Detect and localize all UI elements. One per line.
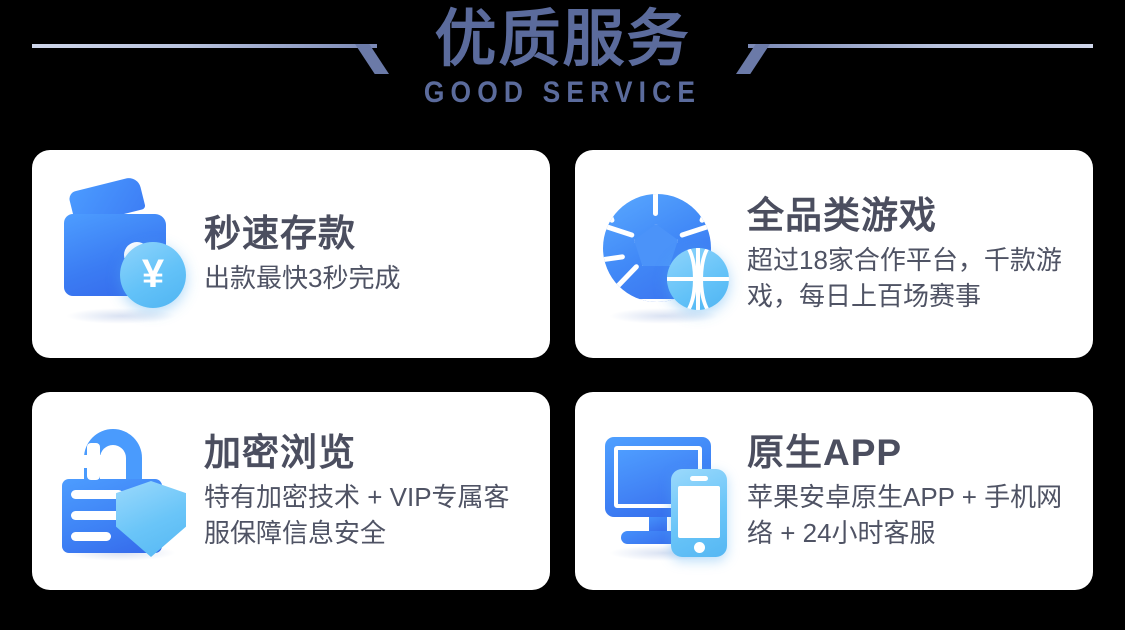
page-title: 优质服务	[0, 6, 1125, 74]
page-subtitle: GOOD SERVICE	[68, 76, 1058, 110]
card-text: 秒速存款 出款最快3秒完成	[204, 211, 534, 297]
card-title: 原生APP	[747, 432, 1077, 475]
soccer-seam	[699, 198, 711, 224]
shield-cross	[75, 455, 112, 468]
title-block: 优质服务 GOOD SERVICE	[0, 6, 1125, 110]
card-description: 特有加密技术 + VIP专属客服保障信息安全	[204, 480, 534, 552]
soccer-seam	[603, 198, 615, 224]
card-title: 全品类游戏	[747, 195, 1077, 238]
wallet-yen-coin-icon: ¥	[58, 188, 190, 320]
monitor-phone-icon	[601, 425, 733, 557]
icon-shadow	[66, 308, 176, 324]
soccer-basketball-icon	[601, 188, 733, 320]
phone-home-button	[694, 542, 705, 553]
phone-screen	[678, 486, 720, 538]
phone-speaker	[690, 476, 708, 481]
soccer-seam	[603, 223, 635, 238]
card-title: 加密浏览	[204, 432, 534, 475]
card-text: 原生APP 苹果安卓原生APP + 手机网络 + 24小时客服	[747, 430, 1077, 552]
feature-card-games[interactable]: 全品类游戏 超过18家合作平台，千款游戏，每日上百场赛事	[575, 150, 1093, 358]
card-description: 超过18家合作平台，千款游戏，每日上百场赛事	[747, 243, 1077, 315]
feature-card-grid: ¥ 秒速存款 出款最快3秒完成	[32, 150, 1093, 590]
soccer-seam	[603, 254, 625, 263]
card-text: 全品类游戏 超过18家合作平台，千款游戏，每日上百场赛事	[747, 193, 1077, 315]
soccer-seam	[653, 194, 658, 216]
soccer-seam	[614, 263, 640, 289]
icon-shadow	[609, 308, 719, 324]
soccer-seam	[679, 223, 711, 238]
lock-shield-icon	[58, 425, 190, 557]
lock-slot	[71, 532, 111, 541]
card-text: 加密浏览 特有加密技术 + VIP专属客服保障信息安全	[204, 430, 534, 552]
promo-banner: 优质服务 GOOD SERVICE ¥ 秒速存款 出款最快3秒完成	[0, 0, 1125, 630]
banner-header: 优质服务 GOOD SERVICE	[0, 0, 1125, 150]
feature-card-deposit[interactable]: ¥ 秒速存款 出款最快3秒完成	[32, 150, 550, 358]
yen-symbol: ¥	[142, 254, 164, 294]
basketball-curve	[667, 248, 697, 310]
card-description: 出款最快3秒完成	[204, 261, 534, 297]
phone-icon	[671, 469, 727, 557]
basketball-icon	[667, 248, 729, 310]
card-description: 苹果安卓原生APP + 手机网络 + 24小时客服	[747, 480, 1077, 552]
yen-coin-icon: ¥	[120, 242, 186, 308]
lock-slot	[71, 490, 123, 499]
feature-card-encryption[interactable]: 加密浏览 特有加密技术 + VIP专属客服保障信息安全	[32, 392, 550, 590]
card-title: 秒速存款	[204, 213, 534, 256]
basketball-curve	[699, 248, 729, 310]
feature-card-native-app[interactable]: 原生APP 苹果安卓原生APP + 手机网络 + 24小时客服	[575, 392, 1093, 590]
